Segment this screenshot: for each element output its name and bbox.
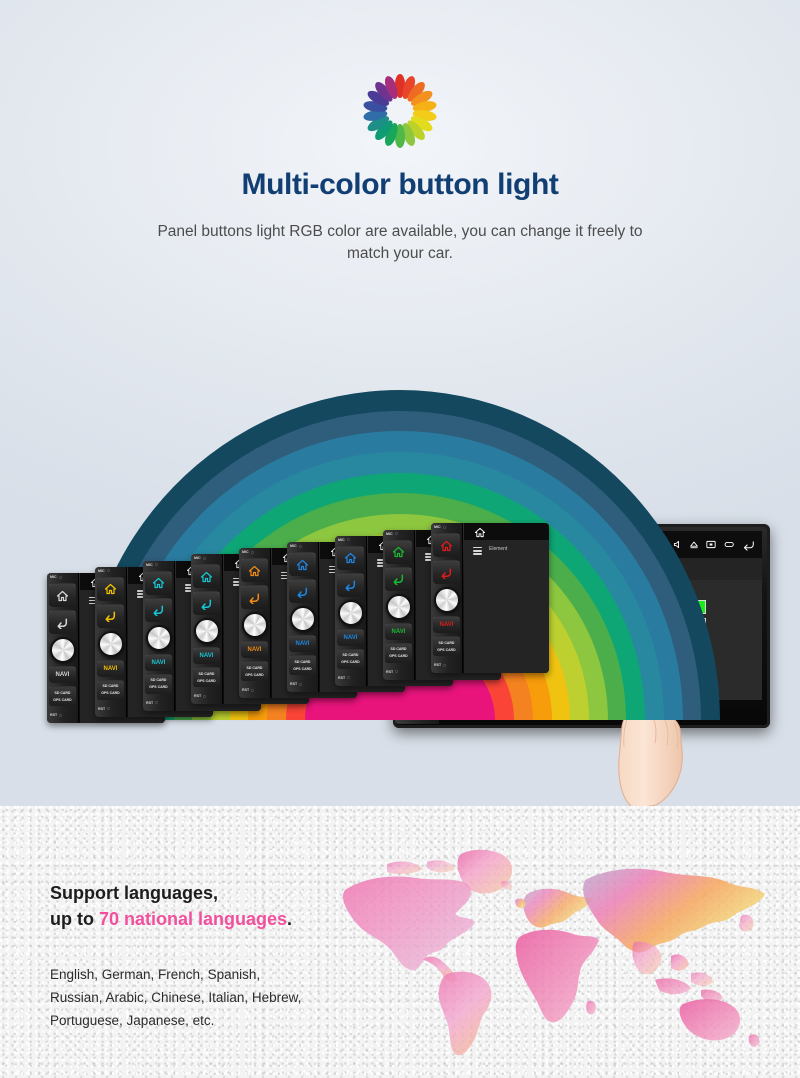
- navi-label: NAVI: [152, 660, 166, 666]
- volume-knob[interactable]: [146, 625, 172, 651]
- reset-hole-icon: [412, 710, 416, 714]
- mic-label-group: MIC: [98, 569, 110, 573]
- reset-hole-icon: [59, 714, 62, 717]
- color-swatch-light-green[interactable]: [646, 636, 674, 650]
- home-button[interactable]: [49, 583, 76, 607]
- home-icon: [152, 577, 165, 589]
- languages-heading-prefix: up to: [50, 909, 99, 929]
- mic-label: MIC: [434, 525, 441, 529]
- back-button[interactable]: [289, 579, 316, 603]
- front-control-panel: MICNAVISD CARDGPS CARDRST: [287, 542, 319, 692]
- navi-label: NAVI: [248, 647, 262, 653]
- languages-heading-line1: Support languages,: [50, 880, 470, 906]
- gps-card-label: GPS CARD: [245, 672, 263, 679]
- rst-label: RST: [242, 688, 249, 692]
- card-slot: SD CARDGPS CARD: [193, 667, 220, 687]
- reset-group[interactable]: RST: [434, 663, 446, 667]
- volume-knob[interactable]: [98, 631, 124, 657]
- card-slot: SD CARDGPS CARD: [385, 643, 412, 663]
- rst-label: RST: [338, 676, 345, 680]
- navi-button[interactable]: NAVI: [337, 629, 364, 646]
- mic-hole-icon: [251, 551, 254, 554]
- navi-label: NAVI: [344, 635, 358, 641]
- gps-card-label: GPS CARD: [437, 647, 455, 654]
- blue-slider[interactable]: [566, 618, 577, 680]
- mic-label: MIC: [386, 532, 393, 536]
- status-bar: [464, 523, 549, 540]
- languages-list-line: English, German, French, Spanish,: [50, 963, 450, 986]
- mic-label: MIC: [194, 556, 201, 560]
- screenshot-icon[interactable]: [651, 538, 666, 551]
- mic-hole-icon: [155, 563, 158, 566]
- languages-list-line: Russian, Arabic, Chinese, Italian, Hebre…: [50, 986, 450, 1009]
- red-slider-handle[interactable]: [523, 673, 532, 678]
- home-button[interactable]: [241, 558, 268, 582]
- rst-label: RST: [50, 713, 57, 717]
- back-button[interactable]: [241, 585, 268, 609]
- sd-card-label: SD CARD: [295, 659, 311, 666]
- reset-group[interactable]: RST: [290, 682, 302, 686]
- card-slot: SD CARDGPS CARD: [433, 636, 460, 656]
- volume-knob[interactable]: [290, 606, 316, 632]
- reset-hole-icon: [395, 670, 398, 673]
- navi-button[interactable]: NAVI: [385, 623, 412, 640]
- reset-hole-icon: [443, 664, 446, 667]
- watercolor-world-map: [335, 838, 790, 1070]
- card-slot: SD CARDGPS CARD: [289, 655, 316, 675]
- eject-icon[interactable]: [689, 540, 699, 549]
- reset-group[interactable]: RST: [50, 713, 62, 717]
- color-swatch-red[interactable]: [614, 618, 642, 632]
- front-control-panel: MICNAVISD CARDGPS CARDRST: [335, 536, 367, 686]
- home-button[interactable]: [97, 577, 124, 601]
- reset-hole-icon: [155, 701, 158, 704]
- rst-label: RST: [290, 682, 297, 686]
- mic-label-group: MIC: [146, 563, 158, 567]
- reset-group[interactable]: RST: [242, 688, 254, 692]
- sd-card-label: SD CARD: [55, 690, 71, 697]
- languages-heading: Support languages, up to 70 national lan…: [50, 880, 470, 932]
- back-arrow-icon: [391, 573, 405, 585]
- languages-heading-suffix: .: [287, 909, 292, 929]
- back-arrow-icon: [295, 586, 309, 598]
- mic-label: MIC: [98, 569, 105, 573]
- back-arrow-icon: [55, 617, 69, 629]
- sd-card-label: SD CARD: [391, 646, 407, 653]
- rst-label: RST: [434, 663, 441, 667]
- reset-hole-icon: [251, 689, 254, 692]
- gps-card-label: GPS CARD: [197, 678, 215, 685]
- home-icon: [248, 565, 261, 577]
- sd-card-label: SD CARD: [199, 671, 215, 678]
- home-button[interactable]: [145, 571, 172, 595]
- home-button[interactable]: [433, 533, 460, 557]
- mic-label-group: MIC: [434, 525, 446, 529]
- navi-button[interactable]: NAVI: [193, 647, 220, 664]
- rst-label: RST: [400, 709, 410, 715]
- front-control-panel: MICNAVISD CARDGPS CARDRST: [383, 530, 415, 680]
- gps-card-label: GPS CARD: [293, 666, 311, 673]
- reset-hole-icon: [347, 676, 350, 679]
- app-bar-title: Element: [489, 546, 507, 552]
- color-swatch-blue[interactable]: [678, 618, 706, 632]
- hamburger-menu-icon[interactable]: [473, 545, 482, 556]
- back-arrow-icon: [439, 567, 453, 579]
- gps-card-label: GPS CARD: [149, 684, 167, 691]
- back-button[interactable]: [433, 560, 460, 584]
- gps-card-label: GPS CARD: [53, 697, 71, 704]
- front-control-panel: MICNAVISD CARDGPS CARDRST: [143, 561, 175, 711]
- back-button[interactable]: [97, 604, 124, 628]
- front-control-panel: MICNAVISD CARDGPS CARDRST: [95, 567, 127, 717]
- back-button[interactable]: [337, 573, 364, 597]
- touchscreen[interactable]: Element: [464, 523, 549, 673]
- front-control-panel: MICNAVISD CARDGPS CARDRST: [431, 523, 463, 673]
- back-button[interactable]: [385, 567, 412, 591]
- home-button[interactable]: [289, 552, 316, 576]
- mic-label: MIC: [50, 575, 57, 579]
- rst-label: RST: [146, 701, 153, 705]
- gps-card-label: GPS CARD: [101, 690, 119, 697]
- card-slot: SD CARDGPS CARD: [97, 680, 124, 700]
- home-icon: [296, 559, 309, 571]
- home-icon: [392, 546, 405, 558]
- back-arrow-icon: [247, 592, 261, 604]
- mic-label-group: MIC: [50, 575, 62, 579]
- reset-group[interactable]: RST: [146, 701, 158, 705]
- sd-card-label: SD CARD: [439, 640, 455, 647]
- reset-group[interactable]: RST: [338, 676, 350, 680]
- navi-label: NAVI: [104, 666, 118, 672]
- rst-label: RST: [386, 670, 393, 674]
- home-icon: [104, 583, 117, 595]
- blue-slider-handle[interactable]: [567, 673, 576, 678]
- mic-label-group: MIC: [386, 532, 398, 536]
- reset-group[interactable]: RST: [400, 709, 416, 715]
- home-button[interactable]: [337, 546, 364, 570]
- reset-hole-icon: [299, 683, 302, 686]
- sd-card-label: SD CARD: [151, 677, 167, 684]
- clock: 20:05: [626, 540, 644, 549]
- languages-count-highlight: 70 national languages: [99, 909, 287, 929]
- app-bar: Element: [464, 540, 549, 673]
- mic-hole-icon: [203, 557, 206, 560]
- front-control-panel: MICNAVISD CARDGPS CARDRST: [47, 573, 79, 723]
- mic-label-group: MIC: [242, 550, 254, 554]
- navi-button[interactable]: NAVI: [97, 660, 124, 677]
- home-icon: [200, 571, 213, 583]
- card-slot: SD CARDGPS CARD: [145, 674, 172, 694]
- hero-section: Multi-color button light Panel buttons l…: [0, 0, 800, 806]
- color-swatch-periwinkle[interactable]: [678, 636, 706, 650]
- gps-card-label: GPS CARD: [389, 653, 407, 660]
- navi-button[interactable]: NAVI: [433, 616, 460, 633]
- navi-button[interactable]: NAVI: [289, 635, 316, 652]
- navi-label: NAVI: [392, 629, 406, 635]
- card-slot: SD CARDGPS CARD: [49, 686, 76, 706]
- mic-label-group: MIC: [338, 538, 350, 542]
- rst-label: RST: [98, 707, 105, 711]
- navi-label: NAVI: [296, 641, 310, 647]
- reset-hole-icon: [203, 695, 206, 698]
- mic-hole-icon: [347, 538, 350, 541]
- home-icon: [56, 590, 69, 602]
- languages-heading-line2: up to 70 national languages.: [50, 906, 470, 932]
- home-icon: [344, 552, 357, 564]
- card-slot: SD CARDGPS CARD: [337, 649, 364, 669]
- swatch-row: [614, 636, 706, 650]
- color-swatch-orange[interactable]: [614, 636, 642, 650]
- volume-knob[interactable]: [194, 618, 220, 644]
- front-control-panel: MICNAVISD CARDGPS CARDRST: [191, 554, 223, 704]
- sd-card-label: SD CARD: [343, 652, 359, 659]
- mic-label-group: MIC: [194, 556, 206, 560]
- navi-label: NAVI: [56, 672, 70, 678]
- volume-knob[interactable]: [50, 637, 76, 663]
- back-icon[interactable]: [741, 539, 756, 551]
- card-slot: SD CARDGPS CARD: [241, 661, 268, 681]
- mic-label-group: MIC: [290, 544, 302, 548]
- back-arrow-icon: [151, 604, 165, 616]
- navi-label: NAVI: [440, 622, 454, 628]
- swatch-row: [614, 618, 706, 632]
- languages-list-line: Portuguese, Japanese, etc.: [50, 1009, 450, 1032]
- pointing-hand-illustration: [600, 655, 740, 806]
- reset-group[interactable]: RST: [194, 694, 206, 698]
- gps-card-label: GPS CARD: [341, 659, 359, 666]
- mic-hole-icon: [107, 569, 110, 572]
- mic-hole-icon: [59, 576, 62, 579]
- mic-label: MIC: [242, 550, 249, 554]
- reset-hole-icon: [107, 707, 110, 710]
- navi-label: NAVI: [200, 653, 214, 659]
- color-swatch-green[interactable]: [646, 618, 674, 632]
- color-preview-bar: [614, 600, 706, 614]
- home-button[interactable]: [193, 564, 220, 588]
- back-arrow-icon: [103, 610, 117, 622]
- home-button[interactable]: [385, 540, 412, 564]
- back-button[interactable]: [193, 591, 220, 615]
- rst-label: RST: [194, 694, 201, 698]
- home-icon: [440, 540, 453, 552]
- sd-card-label: SD CARD: [247, 665, 263, 672]
- mic-hole-icon: [395, 532, 398, 535]
- back-button[interactable]: [49, 610, 76, 634]
- navi-button[interactable]: NAVI: [49, 666, 76, 683]
- mic-label: MIC: [146, 563, 153, 567]
- navi-button[interactable]: NAVI: [145, 654, 172, 671]
- volume-knob[interactable]: [434, 587, 460, 613]
- reset-group[interactable]: RST: [98, 707, 110, 711]
- sd-card-label: SD CARD: [103, 683, 119, 690]
- capture-icon[interactable]: [706, 540, 716, 549]
- mic-hole-icon: [443, 526, 446, 529]
- head-unit-red: MICNAVISD CARDGPS CARDRSTElement: [431, 523, 549, 673]
- volume-knob[interactable]: [386, 594, 412, 620]
- mute-icon[interactable]: [673, 540, 682, 549]
- volume-knob[interactable]: [338, 600, 364, 626]
- back-button[interactable]: [145, 598, 172, 622]
- mic-label: MIC: [338, 538, 345, 542]
- languages-list: English, German, French, Spanish, Russia…: [50, 963, 450, 1033]
- steering-icon[interactable]: [723, 541, 734, 548]
- back-arrow-icon: [343, 579, 357, 591]
- front-control-panel: MICNAVISD CARDGPS CARDRST: [239, 548, 271, 698]
- reset-group[interactable]: RST: [386, 670, 398, 674]
- mic-hole-icon: [299, 545, 302, 548]
- navi-button[interactable]: NAVI: [241, 641, 268, 658]
- mic-label: MIC: [290, 544, 297, 548]
- volume-knob[interactable]: [242, 612, 268, 638]
- back-arrow-icon: [199, 598, 213, 610]
